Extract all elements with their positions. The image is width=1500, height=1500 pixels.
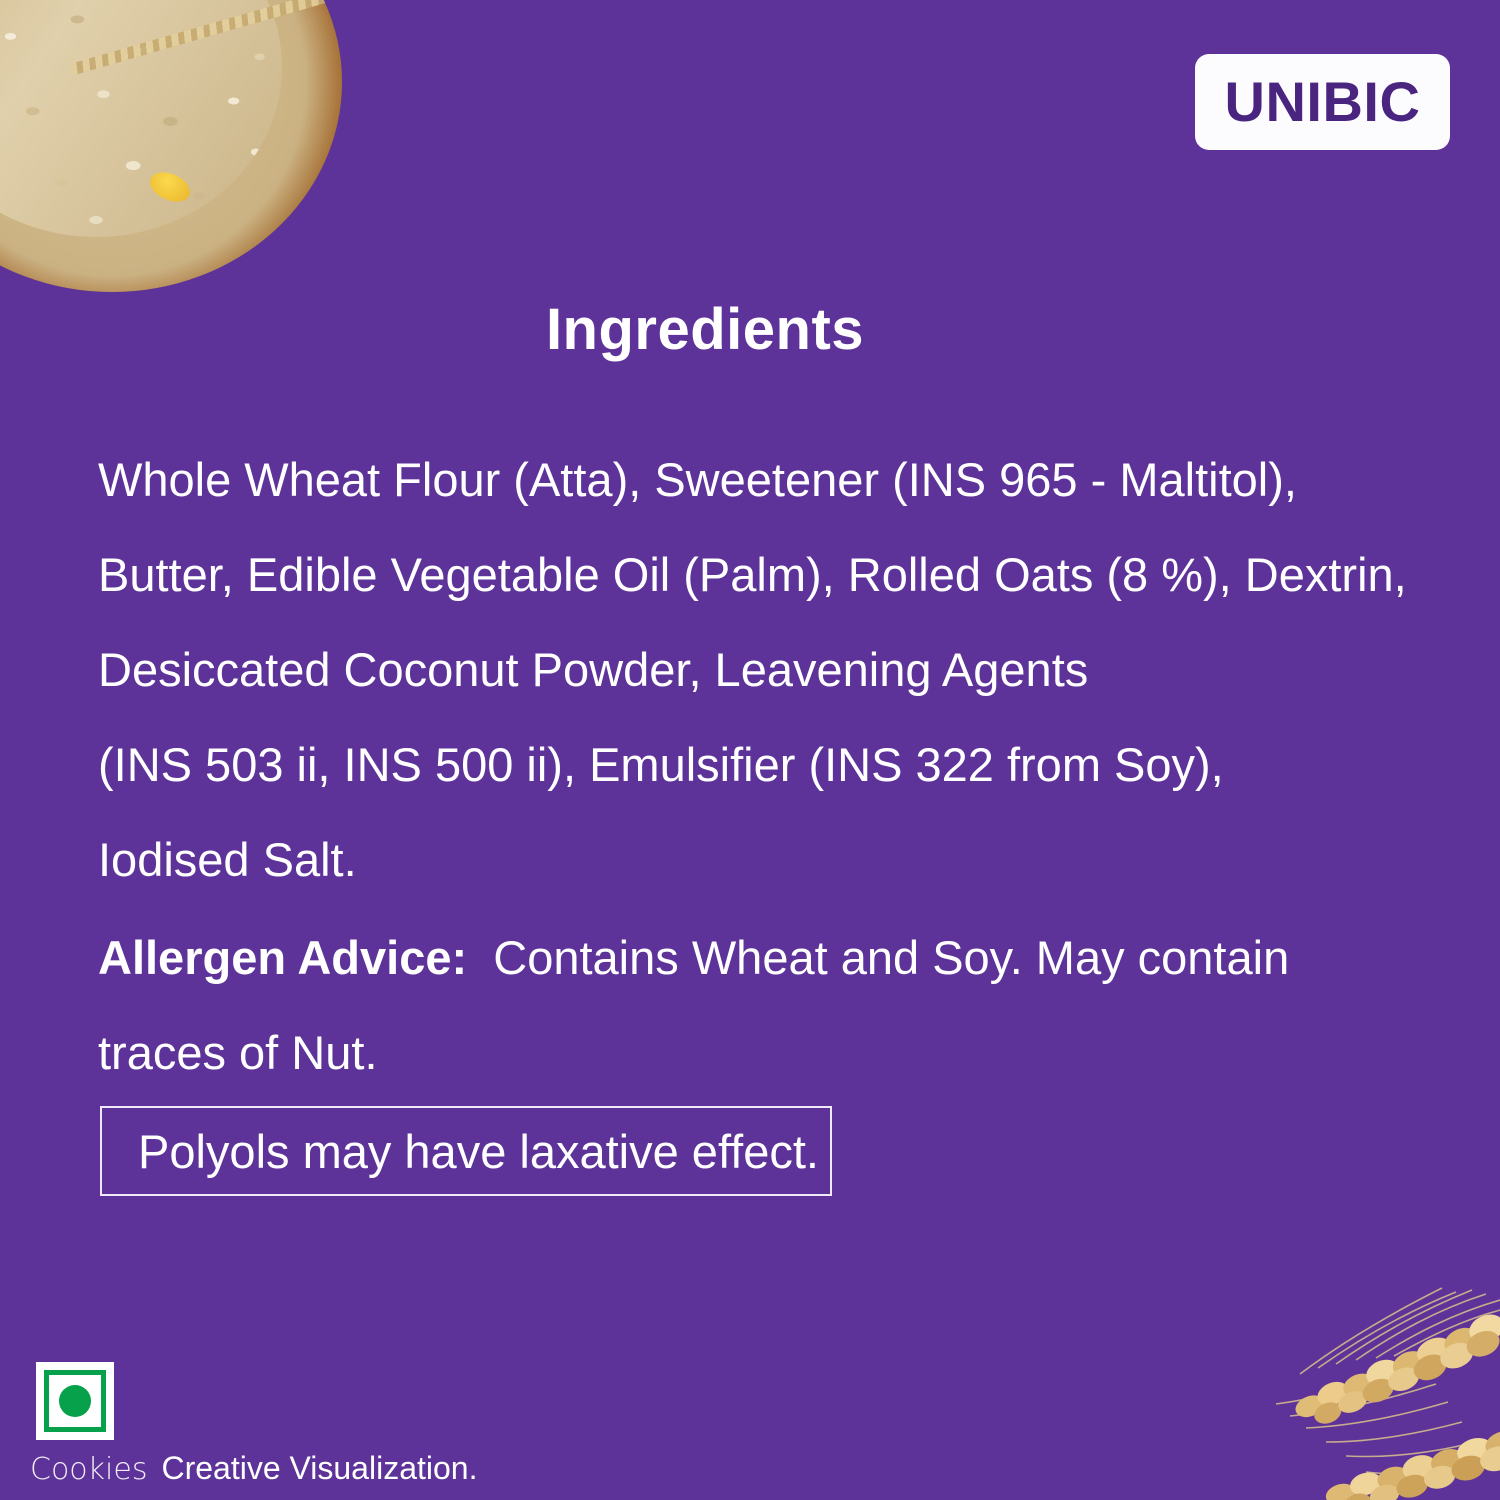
allergen-advice-label: Allergen Advice: <box>98 931 467 984</box>
polyol-warning-text: Polyols may have laxative effect. <box>102 1128 819 1175</box>
unibic-logo-text: UNIBIC <box>1225 74 1421 130</box>
unibic-logo: UNIBIC <box>1195 54 1450 150</box>
allergen-advice-second-line: traces of Nut. <box>98 1005 1428 1100</box>
product-packaging-panel: UNIBIC Ingredients Whole Wheat Flour (At… <box>0 0 1500 1500</box>
creative-visualization-disclaimer: Creative Visualization. <box>161 1450 477 1487</box>
polyol-warning-box: Polyols may have laxative effect. <box>100 1106 832 1196</box>
ingredients-list: Whole Wheat Flour (Atta), Sweetener (INS… <box>98 432 1428 907</box>
ingredients-line: Iodised Salt. <box>98 812 1428 907</box>
page-title: Ingredients <box>0 296 1410 363</box>
rolled-oats-texture <box>0 0 282 237</box>
product-type-label: Cookies <box>30 1452 147 1487</box>
vegetarian-mark-dot-icon <box>59 1385 91 1417</box>
ingredients-line: Butter, Edible Vegetable Oil (Palm), Rol… <box>98 527 1428 622</box>
ingredients-line: (INS 503 ii, INS 500 ii), Emulsifier (IN… <box>98 717 1428 812</box>
allergen-advice: Allergen Advice: Contains Wheat and Soy.… <box>98 910 1428 1100</box>
allergen-advice-text: Contains Wheat and Soy. May contain <box>493 931 1289 984</box>
allergen-advice-first-line: Allergen Advice: Contains Wheat and Soy.… <box>98 910 1428 1005</box>
ingredients-line: Desiccated Coconut Powder, Leavening Age… <box>98 622 1428 717</box>
vegetarian-mark-border <box>44 1370 106 1432</box>
vegetarian-mark-icon <box>36 1362 114 1440</box>
wheat-ears-image <box>1180 1256 1500 1500</box>
oats-bowl-image <box>0 0 342 292</box>
footer: Cookies Creative Visualization. <box>30 1450 477 1487</box>
ingredients-line: Whole Wheat Flour (Atta), Sweetener (INS… <box>98 432 1428 527</box>
